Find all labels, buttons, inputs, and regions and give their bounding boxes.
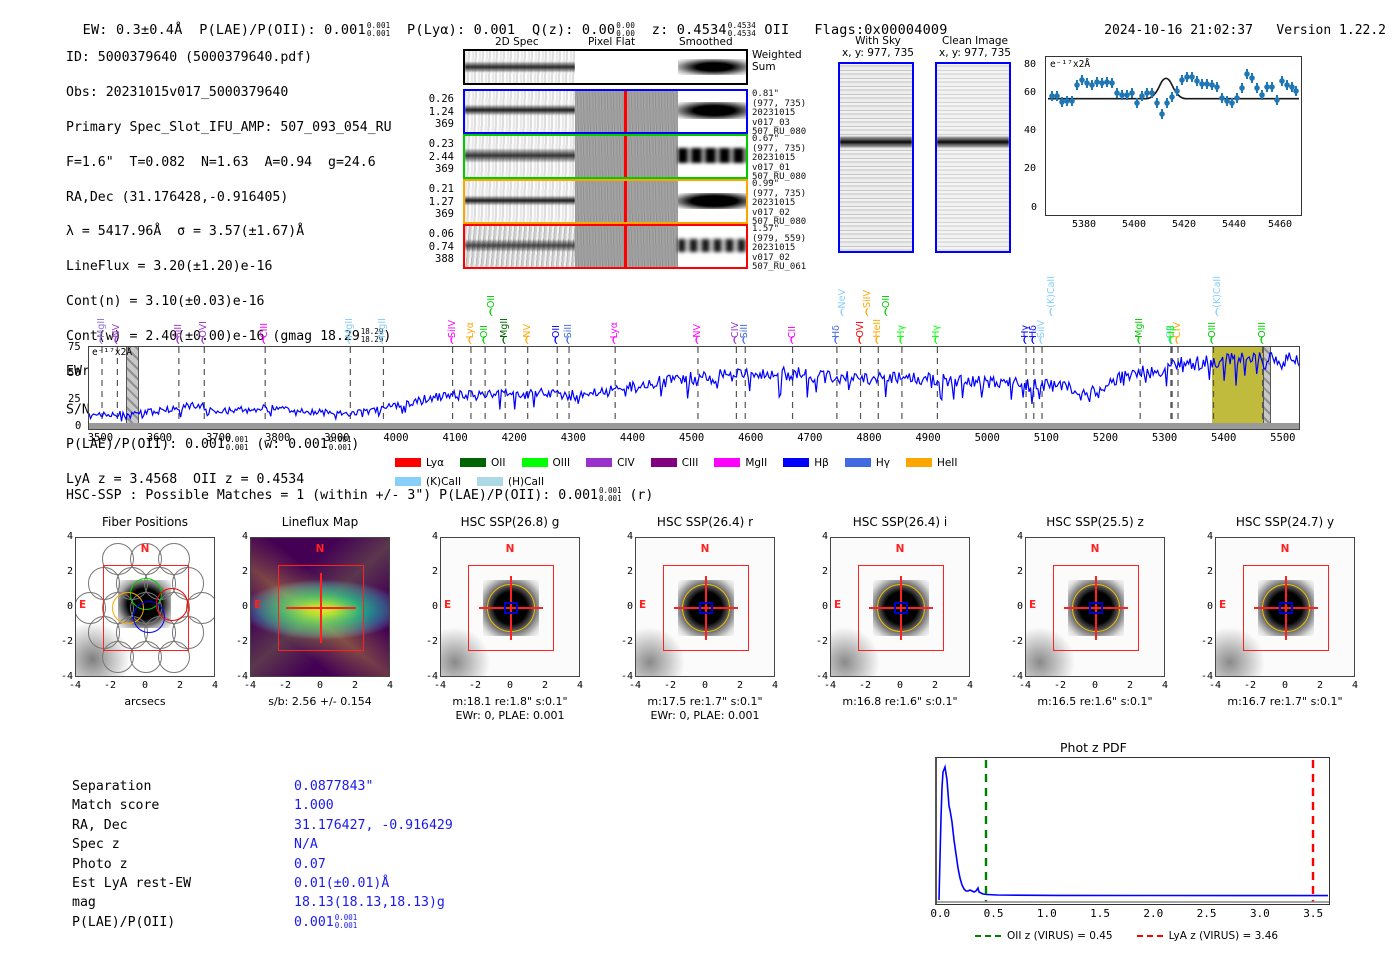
spectrum-xtick-5500: 5500: [1270, 432, 1295, 444]
clean-image-cutout: [935, 62, 1011, 253]
cutout-panel-lineflux-1: Lineflux MapNE-4-4-2-2002244s/b: 2.56 +/…: [250, 515, 450, 720]
cutout-ytick-2-2: 0: [418, 601, 438, 612]
cutout-xtick-0-2: 0: [135, 680, 155, 691]
cutout-panel-image-3: [635, 537, 775, 677]
cutout-xtick-2-3: 2: [535, 680, 555, 691]
spec2d-row-1-left-labels: 0.232.44369: [420, 138, 454, 176]
cutout-ytick-5-1: -2: [1003, 636, 1023, 647]
legend-swatch-2: [522, 458, 548, 467]
with-sky-cutout: [838, 62, 914, 253]
cutout-xtick-3-3: 2: [730, 680, 750, 691]
photz-xtick-3: 3.0: [1250, 907, 1270, 920]
version: Version 1.22.2: [1276, 23, 1386, 38]
cutout-ytick-2-1: -2: [418, 636, 438, 647]
emission-line-brace-13: (: [552, 336, 561, 346]
cutout-xtick-5-1: -2: [1050, 680, 1070, 691]
legend-label-5: MgII: [745, 457, 767, 469]
compass-east: E: [254, 599, 261, 611]
spectrum-xtick-3600: 3600: [147, 432, 172, 444]
legend-item-H: Hγ: [845, 457, 890, 469]
emission-line-brace-8: (: [465, 336, 474, 346]
cutout-xtick-1-0: -4: [240, 680, 260, 691]
cutout-xtick-5-4: 4: [1155, 680, 1175, 691]
match-table-row: RA, Dec31.176427, -0.916429: [72, 817, 453, 834]
cutout-xtick-2-0: -4: [430, 680, 450, 691]
legend-swatch-6: [783, 458, 809, 467]
cutout-panel-title-5: HSC SSP(25.5) z: [1025, 515, 1165, 529]
with-sky-title: With Sky: [833, 35, 923, 47]
cutout-xtick-4-3: 2: [925, 680, 945, 691]
spectrum-xtick-4100: 4100: [442, 432, 467, 444]
emission-line-brace-9: (: [479, 336, 488, 346]
emission-line-brace-24: (: [873, 336, 882, 346]
emission-line-brace-36: (: [1208, 336, 1217, 346]
line-fit-xtick-5460: 5460: [1268, 219, 1292, 230]
cutout-panel-image-6: HSC SSP(24.7) yNE-4-4-2-2002244m:16.7 re…: [1215, 515, 1400, 720]
cutout-panel-title-4: HSC SSP(26.4) i: [830, 515, 970, 529]
photz-legend-label-0: OII z (VIRUS) = 0.45: [1007, 930, 1113, 942]
spectrum-xtick-4700: 4700: [797, 432, 822, 444]
spectrum-xtick-5100: 5100: [1034, 432, 1059, 444]
cutout-ytick-1-4: 4: [228, 531, 248, 542]
legend-label-3: CIV: [617, 457, 635, 469]
emission-line-brace-16: (: [692, 336, 701, 346]
line-fit-ytick-80: 80: [1024, 59, 1036, 70]
emission-line-brace-10: (: [487, 308, 496, 318]
cutout-xtick-2-2: 0: [500, 680, 520, 691]
cutout-panel-image-2: HSC SSP(26.8) gNE-4-4-2-2002244m:18.1 re…: [440, 515, 640, 720]
info-line-obs: Obs: 20231015v017_5000379640: [66, 84, 392, 101]
legend-swatch-5: [714, 458, 740, 467]
cutout-ytick-6-3: 2: [1193, 566, 1213, 577]
cutout-ytick-6-4: 4: [1193, 531, 1213, 542]
cutout-ytick-2-4: 4: [418, 531, 438, 542]
info-line-redshifts: LyA z = 3.4568 OII z = 0.4534: [66, 471, 392, 488]
legend-label-10: (H)CaII: [508, 476, 544, 488]
photz-xtick-0.5: 0.5: [984, 907, 1004, 920]
cutout-ytick-4-4: 4: [808, 531, 828, 542]
crosshair-horizontal: [286, 607, 356, 609]
compass-east: E: [444, 599, 451, 611]
cutout-panel-title-2: HSC SSP(26.8) g: [440, 515, 580, 529]
match-table-row: Match score1.000: [72, 797, 453, 814]
spec2d-weighted-sum-label: Weighted Sum: [752, 50, 802, 73]
emission-line-brace-25: (: [882, 308, 891, 318]
match-table-row: Est LyA rest-EW0.01(±0.01)Å: [72, 875, 453, 892]
legend-item-Ly: Lyα: [395, 457, 444, 469]
header-z-species: OII: [764, 22, 789, 38]
compass-north: N: [1025, 543, 1165, 555]
spectrum-xtick-4400: 4400: [620, 432, 645, 444]
info-line-id: ID: 5000379640 (5000379640.pdf): [66, 49, 392, 66]
cutout-panel-image-0: [75, 537, 215, 677]
emission-line-label-KCaII-37: (K)CaII: [1212, 276, 1223, 308]
spec2d-col-title-2dspec: 2D Spec: [495, 36, 539, 48]
legend-item-CIII: CIII: [651, 457, 699, 469]
cutout-subcaption-1-0: arcsecs: [55, 695, 235, 708]
cutout-xtick-4-0: -4: [820, 680, 840, 691]
cutout-xtick-0-3: 2: [170, 680, 190, 691]
cutout-panel-image-4: HSC SSP(26.4) iNE-4-4-2-2002244m:16.8 re…: [830, 515, 1030, 720]
cutout-xtick-1-1: -2: [275, 680, 295, 691]
compass-north: N: [635, 543, 775, 555]
legend-swatch-9: [395, 477, 421, 486]
emission-line-label-OII-25: OII: [881, 295, 892, 308]
emission-line-labels: MgII(NV(SiII(OVI(CIII(MgII(MgII(SiIV(Lyα…: [0, 266, 1400, 346]
spectrum-xtick-5200: 5200: [1093, 432, 1118, 444]
timestamp: 2024-10-16 21:02:37: [1104, 23, 1253, 38]
cutout-panel-title-0: Fiber Positions: [75, 515, 215, 529]
cutout-ytick-1-3: 2: [228, 566, 248, 577]
emission-line-brace-3: (: [199, 336, 208, 346]
cutout-panel-title-1: Lineflux Map: [250, 515, 390, 529]
photz-title: Phot z PDF: [1060, 740, 1127, 755]
cutout-panel-title-6: HSC SSP(24.7) y: [1215, 515, 1355, 529]
photz-legend-item-1: LyA z (VIRUS) = 3.46: [1137, 930, 1278, 942]
cutout-panel-image-5: HSC SSP(25.5) zNE-4-4-2-2002244m:16.5 re…: [1025, 515, 1225, 720]
match-table-row: Spec zN/A: [72, 836, 453, 853]
info-line-seeing: F=1.6" T=0.082 N=1.63 A=0.94 g=24.6: [66, 154, 392, 171]
compass-north: N: [1215, 543, 1355, 555]
cutout-subcaption-1-5: m:16.5 re:1.6" s:0.1": [1005, 695, 1185, 708]
cutout-ytick-3-3: 2: [613, 566, 633, 577]
cutout-xtick-4-2: 0: [890, 680, 910, 691]
photz-xtick-1.5: 1.5: [1090, 907, 1110, 920]
emission-line-brace-19: (: [787, 336, 796, 346]
line-fit-ytick-40: 40: [1024, 125, 1036, 136]
clean-image-title: Clean Image: [930, 35, 1020, 47]
match-marker: [504, 602, 518, 614]
cutout-xtick-5-3: 2: [1120, 680, 1140, 691]
emission-line-brace-7: (: [447, 336, 456, 346]
legend-swatch-10: [477, 477, 503, 486]
cutout-ytick-1-2: 0: [228, 601, 248, 612]
cutout-xtick-4-1: -2: [855, 680, 875, 691]
cutout-ytick-3-1: -2: [613, 636, 633, 647]
emission-line-brace-23: (: [863, 308, 872, 318]
emission-line-brace-21: (: [837, 308, 846, 318]
photz-legend: OII z (VIRUS) = 0.45LyA z (VIRUS) = 3.46: [975, 930, 1305, 946]
cutout-xtick-5-2: 0: [1085, 680, 1105, 691]
spectrum-xtick-3800: 3800: [265, 432, 290, 444]
legend-item-H: Hβ: [783, 457, 829, 469]
photz-xtick-1: 1.0: [1037, 907, 1057, 920]
cutout-xtick-0-0: -4: [65, 680, 85, 691]
match-table-row: Separation0.0877843": [72, 778, 453, 795]
cutout-xtick-4-4: 4: [960, 680, 980, 691]
spectrum-xticks: 3500360037003800390040004100420043004400…: [0, 432, 1400, 448]
spec2d-row-2-right-labels: 0.99"(977, 735)20231015v017_02507_RU_080: [752, 180, 806, 228]
cutout-subcaption-1-1: s/b: 2.56 +/- 0.154: [230, 695, 410, 708]
emission-line-label-KCaII-31: (K)CaII: [1046, 276, 1057, 308]
emission-line-brace-22: (: [855, 336, 864, 346]
spectrum-xtick-5300: 5300: [1152, 432, 1177, 444]
photz-svg: [937, 758, 1330, 904]
cutout-xtick-1-3: 2: [345, 680, 365, 691]
match-marker: [1279, 602, 1293, 614]
spec2d-row-3-left-labels: 0.060.74388: [420, 228, 454, 266]
cutout-xtick-6-1: -2: [1240, 680, 1260, 691]
photz-legend-swatch-1: [1137, 935, 1163, 937]
photz-xtick-3.5: 3.5: [1303, 907, 1323, 920]
spectrum-xtick-4600: 4600: [738, 432, 763, 444]
cutout-ytick-0-3: 2: [53, 566, 73, 577]
cutout-panel-image-6: [1215, 537, 1355, 677]
legend-item-HCaII: (H)CaII: [477, 476, 544, 488]
compass-east: E: [1219, 599, 1226, 611]
cutout-xtick-3-2: 0: [695, 680, 715, 691]
match-marker: [1089, 602, 1103, 614]
legend-label-7: Hγ: [876, 457, 890, 469]
spectrum-ytick-0: 0: [75, 420, 81, 432]
compass-east: E: [834, 599, 841, 611]
spectrum-trace: [89, 347, 1299, 429]
match-table-value-5: 0.01(±0.01)Å: [294, 875, 453, 892]
cutout-ytick-6-1: -2: [1193, 636, 1213, 647]
cutout-panel-image-1: [250, 537, 390, 677]
cutout-ytick-5-4: 4: [1003, 531, 1023, 542]
emission-line-brace-14: (: [563, 336, 572, 346]
aperture-box: [103, 565, 190, 652]
info-line-wavelength: λ = 5417.96Å σ = 3.57(±1.67)Å: [66, 223, 392, 240]
cutout-ytick-0-4: 4: [53, 531, 73, 542]
spectrum-xtick-5400: 5400: [1211, 432, 1236, 444]
spectrum-xtick-4800: 4800: [856, 432, 881, 444]
clean-image-coords: x, y: 977, 735: [925, 47, 1025, 59]
emission-line-label-NeV-21: NeV: [837, 289, 848, 308]
cutout-subcaption-1-2: m:18.1 re:1.8" s:0.1": [420, 695, 600, 708]
legend-swatch-7: [845, 458, 871, 467]
emission-line-brace-15: (: [610, 336, 619, 346]
match-table-key-1: Match score: [72, 797, 292, 814]
cutout-xtick-1-4: 4: [380, 680, 400, 691]
spectrum-xtick-4000: 4000: [383, 432, 408, 444]
legend-label-6: Hβ: [814, 457, 829, 469]
line-fit-xtick-5440: 5440: [1222, 219, 1246, 230]
spectrum-xtick-4900: 4900: [915, 432, 940, 444]
emission-line-brace-38: (: [1257, 336, 1266, 346]
photz-xtick-2.5: 2.5: [1197, 907, 1217, 920]
line-fit-ytick-60: 60: [1024, 87, 1036, 98]
match-table-value-1: 1.000: [294, 797, 453, 814]
emission-line-brace-2: (: [173, 336, 182, 346]
spec2d-col-title-smoothed: Smoothed: [679, 36, 733, 48]
emission-line-brace-27: (: [932, 336, 941, 346]
cutout-subcaption-2-2: EWr: 0, PLAE: 0.001: [420, 709, 600, 722]
cutout-ytick-4-2: 0: [808, 601, 828, 612]
emission-line-brace-5: (: [345, 336, 354, 346]
cutout-xtick-0-4: 4: [205, 680, 225, 691]
cutout-panel-image-5: [1025, 537, 1165, 677]
emission-line-brace-26: (: [896, 336, 905, 346]
cutout-panel-row: Fiber PositionsNE-4-4-2-2002244arcsecsLi…: [0, 515, 1400, 725]
cutout-panel-image-3: HSC SSP(26.4) rNE-4-4-2-2002244m:17.5 re…: [635, 515, 835, 720]
legend-label-0: Lyα: [426, 457, 444, 469]
emission-line-brace-11: (: [500, 336, 509, 346]
cutout-xtick-5-0: -4: [1015, 680, 1035, 691]
cutout-xtick-3-1: -2: [660, 680, 680, 691]
emission-line-brace-30: (: [1036, 336, 1045, 346]
line-fit-svg: [1046, 57, 1301, 215]
cutout-ytick-0-2: 0: [53, 601, 73, 612]
compass-north: N: [830, 543, 970, 555]
line-fit-xtick-5420: 5420: [1172, 219, 1196, 230]
match-table-key-5: Est LyA rest-EW: [72, 875, 292, 892]
photz-xtick-0: 0.0: [930, 907, 950, 920]
compass-east: E: [79, 599, 86, 611]
spectrum-ytick-25: 25: [68, 393, 81, 405]
legend-label-1: OII: [491, 457, 505, 469]
cutout-panel-image-2: [440, 537, 580, 677]
cutout-panel-image-4: [830, 537, 970, 677]
emission-line-brace-20: (: [831, 336, 840, 346]
cutout-xtick-3-0: -4: [625, 680, 645, 691]
spec2d-col-title-pixelflat: Pixel Flat: [588, 36, 635, 48]
legend-label-8: HeII: [937, 457, 958, 469]
match-marker: [699, 602, 713, 614]
compass-north: N: [75, 543, 215, 555]
emission-line-label-OII-10: OII: [486, 295, 497, 308]
cutout-ytick-2-3: 2: [418, 566, 438, 577]
spectrum-ytick-75: 75: [68, 341, 81, 353]
spectrum-legend: LyαOIIOIIICIVCIIIMgIIHβHγHeII(K)CaII(H)C…: [395, 452, 1015, 468]
cutout-panel-title-3: HSC SSP(26.4) r: [635, 515, 775, 529]
photz-legend-swatch-0: [975, 935, 1001, 937]
match-table-row: Photo z0.07: [72, 856, 453, 873]
line-fit-annotation: e⁻¹⁷x2Å: [1050, 59, 1090, 70]
line-fit-ytick-20: 20: [1024, 163, 1036, 174]
emission-line-brace-4: (: [260, 336, 269, 346]
photz-legend-item-0: OII z (VIRUS) = 0.45: [975, 930, 1113, 942]
cutout-xtick-6-4: 4: [1345, 680, 1365, 691]
cutout-ytick-3-4: 4: [613, 531, 633, 542]
cutout-ytick-5-2: 0: [1003, 601, 1023, 612]
spectrum-xtick-4300: 4300: [561, 432, 586, 444]
photz-plot: [935, 757, 1330, 905]
line-fit-ytick-0: 0: [1031, 202, 1037, 213]
compass-east: E: [1029, 599, 1036, 611]
cutout-ytick-4-3: 2: [808, 566, 828, 577]
full-spectrum-plot: e⁻¹⁷x2Å: [88, 346, 1300, 430]
match-table-value-4: 0.07: [294, 856, 453, 873]
emission-line-brace-1: (: [112, 336, 121, 346]
match-table-value-3: N/A: [294, 836, 453, 853]
cutout-xtick-6-2: 0: [1275, 680, 1295, 691]
match-table-value-2: 31.176427, -0.916429: [294, 817, 453, 834]
legend-label-4: CIII: [682, 457, 699, 469]
legend-swatch-0: [395, 458, 421, 467]
hsc-header: HSC-SSP : Possible Matches = 1 (within +…: [66, 487, 653, 503]
legend-item-HeII: HeII: [906, 457, 958, 469]
info-line-specslot: Primary Spec_Slot_IFU_AMP: 507_093_054_R…: [66, 119, 392, 136]
legend-label-2: OIII: [553, 457, 571, 469]
cutout-xtick-3-4: 4: [765, 680, 785, 691]
legend-swatch-3: [586, 458, 612, 467]
legend-item-CIV: CIV: [586, 457, 635, 469]
spectrum-xtick-3900: 3900: [324, 432, 349, 444]
emission-line-brace-31: (: [1046, 308, 1055, 318]
cutout-xtick-1-2: 0: [310, 680, 330, 691]
line-fit-plot: e⁻¹⁷x2Å: [1045, 56, 1302, 216]
cutout-xtick-6-0: -4: [1205, 680, 1225, 691]
match-table-key-3: Spec z: [72, 836, 292, 853]
spectrum-xtick-5000: 5000: [975, 432, 1000, 444]
legend-item-OII: OII: [460, 457, 505, 469]
spec2d-row-2: [463, 179, 748, 224]
with-sky-coords: x, y: 977, 735: [828, 47, 928, 59]
cutout-xtick-2-1: -2: [465, 680, 485, 691]
legend-swatch-1: [460, 458, 486, 467]
spectrum-ytick-50: 50: [68, 367, 81, 379]
line-fit-xtick-5400: 5400: [1122, 219, 1146, 230]
spec2d-weighted-sum-row: [463, 49, 748, 85]
emission-line-brace-37: (: [1213, 308, 1222, 318]
spec2d-row-0: [463, 89, 748, 134]
spec2d-row-0-left-labels: 0.261.24369: [420, 93, 454, 131]
cutout-ytick-5-3: 2: [1003, 566, 1023, 577]
emission-line-brace-12: (: [522, 336, 531, 346]
match-table-value-0: 0.0877843": [294, 778, 453, 795]
emission-line-brace-0: (: [96, 336, 105, 346]
cutout-xtick-6-3: 2: [1310, 680, 1330, 691]
spec2d-row-0-right-labels: 0.81"(977, 735)20231015v017_03507_RU_080: [752, 90, 806, 138]
photz-xtick-2: 2.0: [1143, 907, 1163, 920]
emission-line-label-SiIV-23: SiIV: [862, 290, 873, 308]
line-fit-xtick-5380: 5380: [1072, 219, 1096, 230]
cutout-subcaption-1-4: m:16.8 re:1.6" s:0.1": [810, 695, 990, 708]
match-table-key-0: Separation: [72, 778, 292, 795]
spec2d-row-1-right-labels: 0.67"(977, 735)20231015v017_01507_RU_080: [752, 135, 806, 183]
cutout-ytick-3-2: 0: [613, 601, 633, 612]
match-table-key-4: Photo z: [72, 856, 292, 873]
emission-line-brace-6: (: [378, 336, 387, 346]
spec2d-row-1: [463, 134, 748, 179]
spectrum-xtick-4500: 4500: [679, 432, 704, 444]
cutout-subcaption-2-3: EWr: 0, PLAE: 0.001: [615, 709, 795, 722]
legend-item-OIII: OIII: [522, 457, 571, 469]
cutout-ytick-0-1: -2: [53, 636, 73, 647]
header-timestamp-version: 2024-10-16 21:02:37 Version 1.22.2: [1089, 8, 1386, 38]
match-table-key-2: RA, Dec: [72, 817, 292, 834]
spec2d-row-3: [463, 224, 748, 269]
cutout-ytick-4-1: -2: [808, 636, 828, 647]
cutout-subcaption-1-6: m:16.7 re:1.7" s:0.1": [1195, 695, 1375, 708]
cutout-ytick-6-2: 0: [1193, 601, 1213, 612]
cutout-xtick-2-4: 4: [570, 680, 590, 691]
legend-swatch-8: [906, 458, 932, 467]
compass-north: N: [250, 543, 390, 555]
match-marker: [894, 602, 908, 614]
spectrum-xtick-3500: 3500: [88, 432, 113, 444]
info-line-radec: RA,Dec (31.176428,-0.916405): [66, 189, 392, 206]
emission-line-brace-35: (: [1166, 336, 1175, 346]
cutout-subcaption-1-3: m:17.5 re:1.7" s:0.1": [615, 695, 795, 708]
spectrum-xtick-4200: 4200: [502, 432, 527, 444]
spectrum-annotation: e⁻¹⁷x2Å: [92, 347, 132, 358]
legend-item-MgII: MgII: [714, 457, 767, 469]
cutout-ytick-1-1: -2: [228, 636, 248, 647]
emission-line-brace-32: (: [1135, 336, 1144, 346]
photz-xticks: 0.00.51.01.52.02.53.03.5: [0, 907, 1400, 923]
cutout-xtick-0-1: -2: [100, 680, 120, 691]
legend-item-KCaII: (K)CaII: [395, 476, 461, 488]
compass-north: N: [440, 543, 580, 555]
emission-line-brace-18: (: [740, 336, 749, 346]
spec2d-row-2-left-labels: 0.211.27369: [420, 183, 454, 221]
legend-label-9: (K)CaII: [426, 476, 461, 488]
legend-swatch-4: [651, 458, 677, 467]
compass-east: E: [639, 599, 646, 611]
